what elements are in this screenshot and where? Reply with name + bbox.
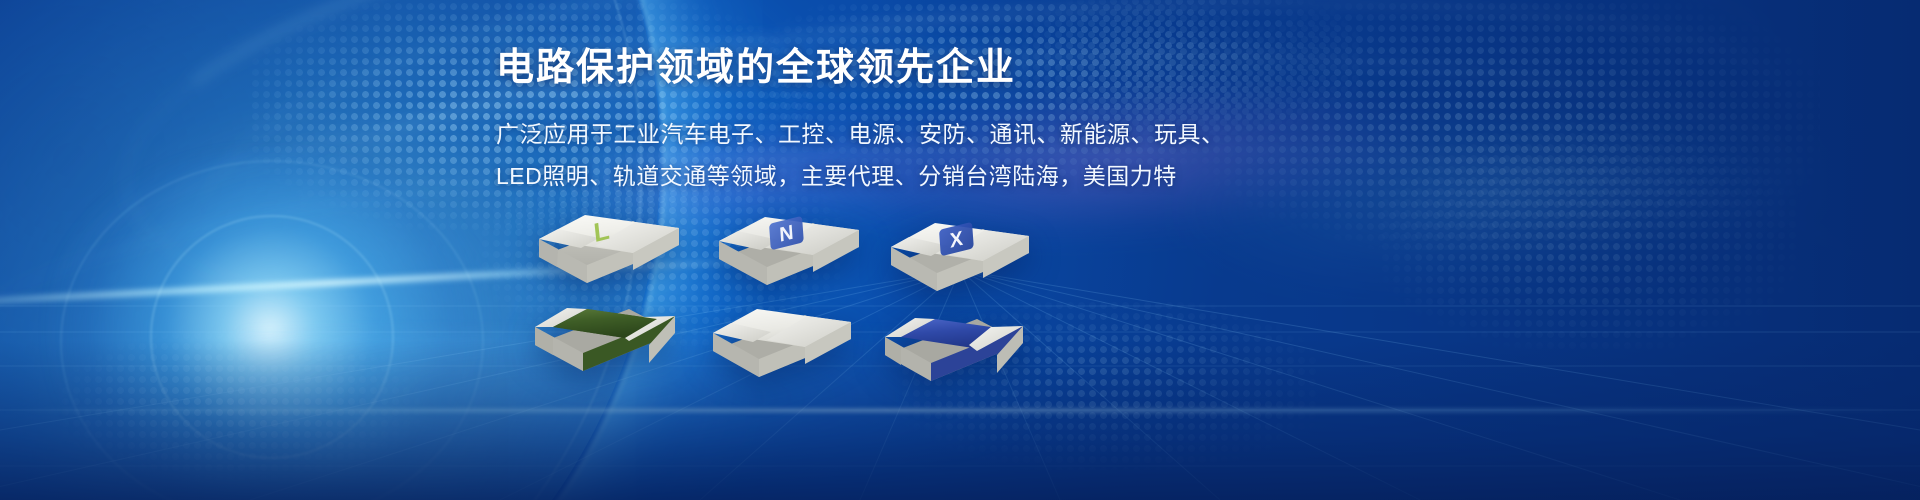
svg-text:X: X xyxy=(949,227,964,252)
svg-text:L: L xyxy=(592,214,611,248)
product-chip-plain-white[interactable] xyxy=(703,293,863,403)
product-chip-dark-green[interactable] xyxy=(525,285,685,395)
svg-text:N: N xyxy=(779,221,795,247)
product-showcase: L xyxy=(495,185,1055,375)
product-chip-blue-body[interactable] xyxy=(875,297,1035,407)
promo-banner: 电路保护领域的全球领先企业 广泛应用于工业汽车电子、工控、电源、安防、通讯、新能… xyxy=(0,0,1920,500)
banner-copy: 电路保护领域的全球领先企业 广泛应用于工业汽车电子、工控、电源、安防、通讯、新能… xyxy=(496,36,1496,197)
subtitle-line-1: 广泛应用于工业汽车电子、工控、电源、安防、通讯、新能源、玩具、 xyxy=(496,113,1496,155)
page-title: 电路保护领域的全球领先企业 xyxy=(496,36,1496,91)
